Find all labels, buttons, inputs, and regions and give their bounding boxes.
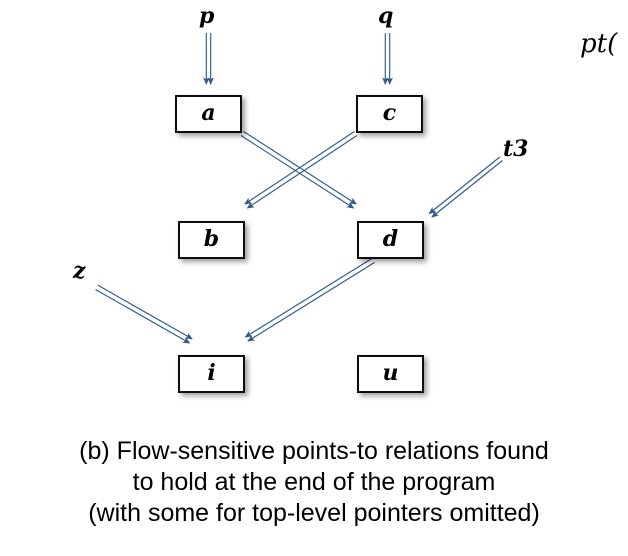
node-i[interactable]: i — [178, 355, 245, 393]
node-c[interactable]: c — [356, 95, 423, 133]
edge-c-to-b — [245, 132, 357, 209]
edge-a-to-d — [241, 132, 356, 209]
node-b-label: b — [204, 228, 219, 250]
figure-caption: (b) Flow-sensitive points-to relations f… — [0, 436, 628, 529]
node-u[interactable]: u — [357, 355, 424, 393]
node-d-label: d — [383, 228, 398, 250]
edge-q-to-c — [385, 33, 389, 84]
figure-canvas: a c b d i u p q t3 z pt( (b) Flow-sensit… — [0, 0, 628, 556]
variable-label-q: q — [378, 5, 393, 27]
variable-label-t3: t3 — [503, 138, 528, 160]
node-b[interactable]: b — [178, 221, 245, 259]
node-d[interactable]: d — [357, 221, 424, 259]
edge-t3-to-d — [429, 157, 502, 217]
edge-p-to-a — [206, 33, 210, 84]
node-a-label: a — [201, 102, 215, 124]
node-i-label: i — [207, 362, 215, 384]
caption-line-1: (b) Flow-sensitive points-to relations f… — [0, 436, 628, 467]
node-a[interactable]: a — [175, 95, 242, 133]
variable-label-z: z — [73, 260, 86, 282]
caption-line-2: to hold at the end of the program — [0, 467, 628, 498]
caption-line-3: (with some for top-level pointers omitte… — [0, 498, 628, 529]
edge-d-to-i — [245, 259, 374, 342]
node-u-label: u — [383, 362, 399, 384]
edge-z-to-i — [96, 285, 193, 343]
points-to-function-text: pt( — [580, 31, 617, 57]
node-c-label: c — [383, 102, 396, 124]
variable-label-p: p — [199, 5, 214, 27]
